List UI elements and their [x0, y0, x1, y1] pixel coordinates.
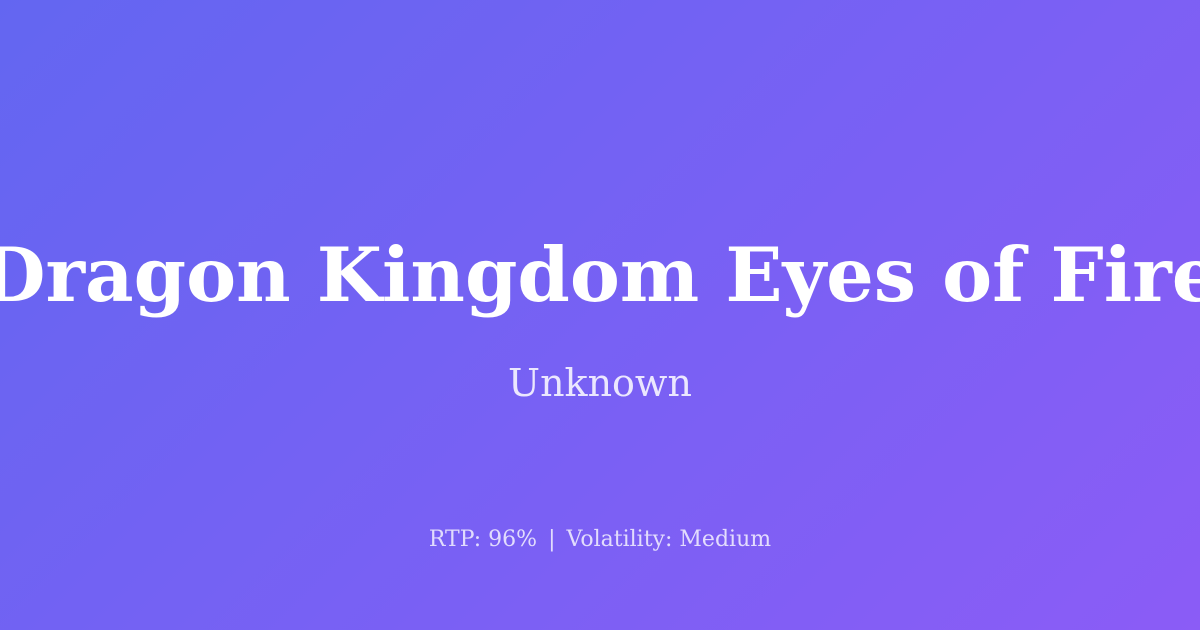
game-provider-subtitle: Unknown — [0, 362, 1200, 406]
game-meta-line: RTP: 96% | Volatility: Medium — [0, 527, 1200, 553]
og-share-card: Dragon Kingdom Eyes of Fire Unknown RTP:… — [0, 0, 1200, 630]
volatility-label: Volatility: — [567, 527, 673, 552]
meta-separator: | — [544, 527, 559, 552]
rtp-label: RTP: — [429, 527, 481, 552]
volatility-value: Medium — [679, 527, 771, 552]
page-title: Dragon Kingdom Eyes of Fire — [0, 238, 1200, 313]
rtp-value: 96% — [488, 527, 537, 552]
title-block: Dragon Kingdom Eyes of Fire — [0, 0, 1200, 345]
